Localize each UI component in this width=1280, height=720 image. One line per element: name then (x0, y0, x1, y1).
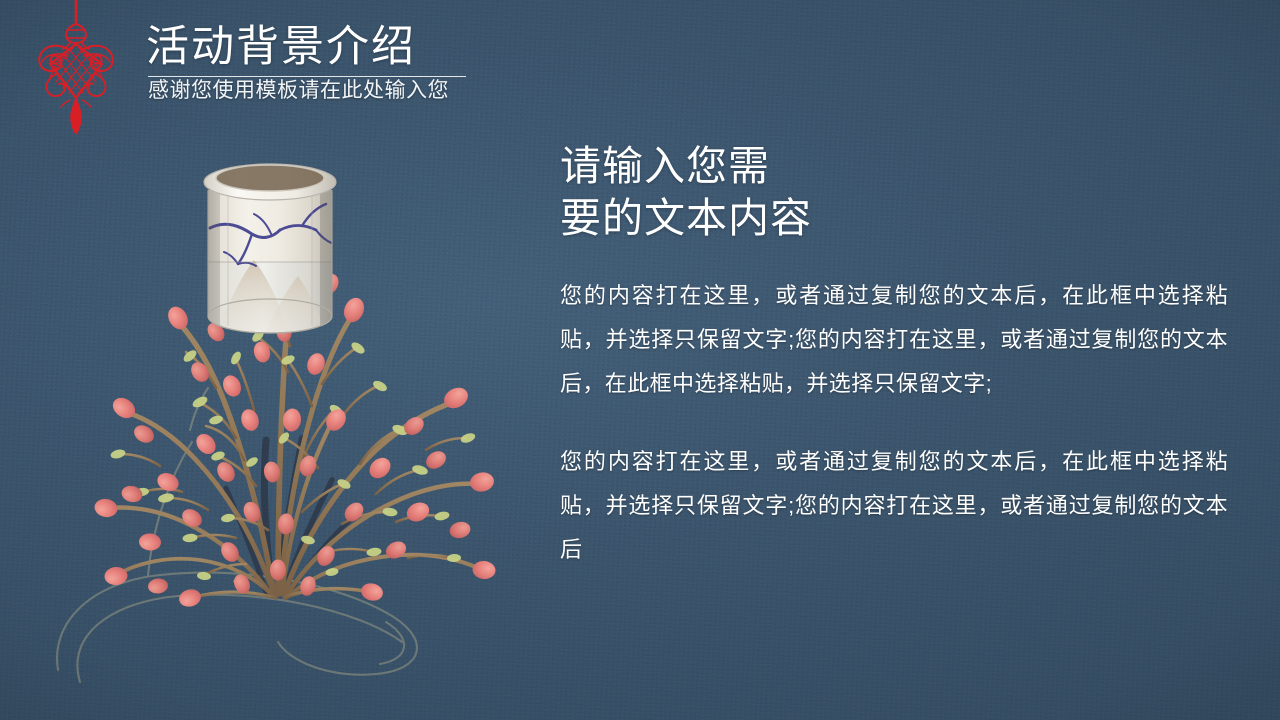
chinese-knot-icon (30, 0, 122, 134)
content-heading-line-2: 要的文本内容 (560, 192, 1228, 244)
vase-and-branches-illustration (40, 120, 540, 700)
content-heading-line-1: 请输入您需 (560, 140, 1228, 192)
content-column: 请输入您需 要的文本内容 您的内容打在这里，或者通过复制您的文本后，在此框中选择… (560, 140, 1228, 572)
slide-canvas: 活动背景介绍 感谢您使用模板请在此处输入您 请输入您需 要的文本内容 您的内容打… (0, 0, 1280, 720)
body-paragraph-1: 您的内容打在这里，或者通过复制您的文本后，在此框中选择粘贴，并选择只保留文字;您… (560, 274, 1228, 406)
content-heading: 请输入您需 要的文本内容 (560, 140, 1228, 244)
body-paragraph-2: 您的内容打在这里，或者通过复制您的文本后，在此框中选择粘贴，并选择只保留文字;您… (560, 440, 1228, 572)
header-title-block: 活动背景介绍 感谢您使用模板请在此处输入您 (146, 22, 466, 104)
page-title: 活动背景介绍 (146, 22, 466, 72)
illustration (40, 120, 540, 700)
page-subtitle: 感谢您使用模板请在此处输入您 (146, 78, 466, 104)
slide-header: 活动背景介绍 感谢您使用模板请在此处输入您 (0, 0, 560, 135)
porcelain-vase (204, 164, 336, 342)
header-divider (148, 76, 466, 77)
